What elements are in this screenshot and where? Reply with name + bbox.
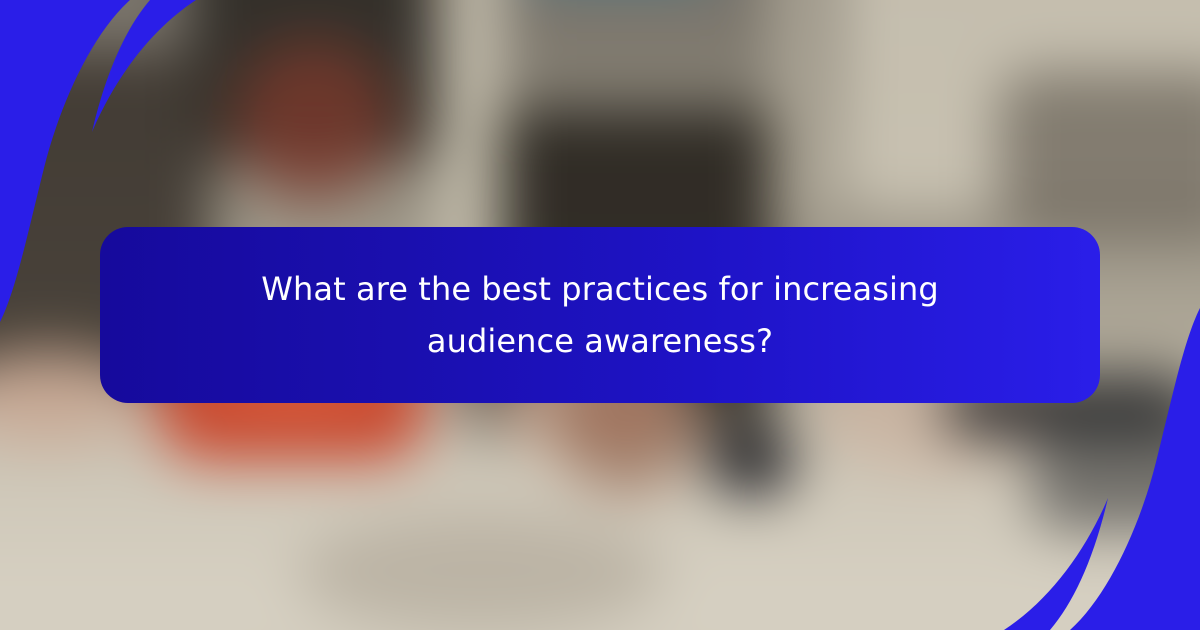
- photo-shape-dark-corner-bottom-right: [1032, 401, 1200, 531]
- photo-shape-dark-circle: [708, 428, 794, 495]
- photo-shape-shelf-frame-right: [773, 0, 821, 223]
- photo-shape-dark-upper-right: [1000, 72, 1200, 234]
- question-text: What are the best practices for increasi…: [160, 263, 1040, 367]
- photo-shape-red-accent-upper-left: [233, 40, 395, 202]
- question-card: What are the best practices for increasi…: [100, 227, 1100, 403]
- photo-shape-soft-shadow-bottom: [298, 515, 665, 630]
- social-card-banner: What are the best practices for increasi…: [0, 0, 1200, 630]
